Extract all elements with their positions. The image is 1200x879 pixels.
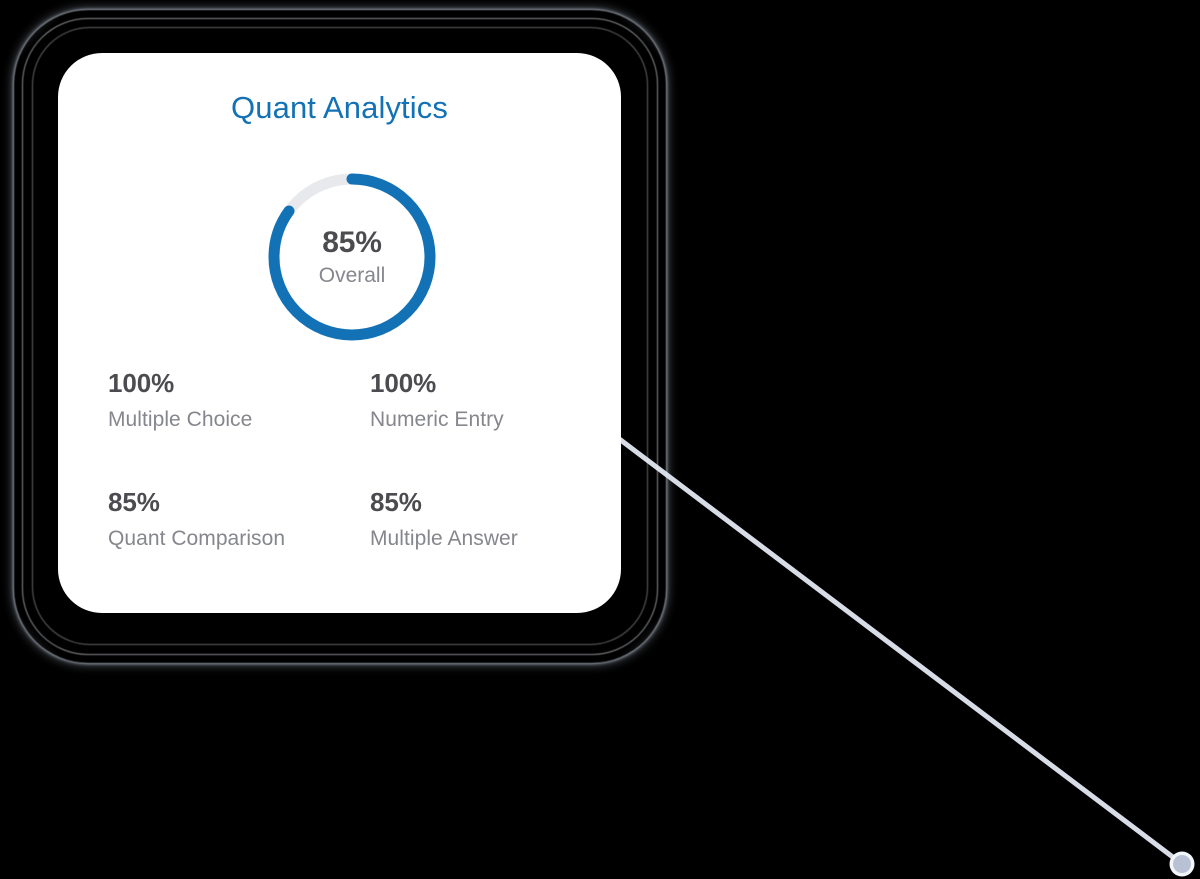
stat-multiple-choice: 100% Multiple Choice	[108, 369, 370, 432]
stat-value: 85%	[108, 488, 370, 518]
donut-value-text: 85%	[322, 227, 381, 259]
overall-score-donut-chart: 85% Overall	[266, 171, 438, 343]
page-title: Quant Analytics	[58, 90, 621, 126]
stat-label: Numeric Entry	[370, 408, 588, 432]
donut-label-text: Overall	[319, 264, 386, 287]
screenshot-canvas: Quant Analytics 85% Overall 100% Multipl…	[0, 0, 1200, 879]
stat-value: 100%	[370, 369, 588, 399]
stat-label: Multiple Answer	[370, 527, 588, 551]
callout-anchor-ring-icon	[1170, 852, 1195, 877]
stat-label: Multiple Choice	[108, 408, 370, 432]
donut-center-labels: 85% Overall	[266, 171, 438, 343]
stat-multiple-answer: 85% Multiple Answer	[370, 488, 588, 551]
score-breakdown-grid: 100% Multiple Choice 100% Numeric Entry …	[108, 369, 588, 551]
stat-quant-comparison: 85% Quant Comparison	[108, 488, 370, 551]
callout-connector-line	[618, 438, 1182, 864]
stat-numeric-entry: 100% Numeric Entry	[370, 369, 588, 432]
callout-anchor-dot-icon[interactable]	[1173, 855, 1191, 873]
stat-label: Quant Comparison	[108, 527, 370, 551]
quant-analytics-card: Quant Analytics 85% Overall 100% Multipl…	[58, 53, 621, 613]
stat-value: 100%	[108, 369, 370, 399]
stat-value: 85%	[370, 488, 588, 518]
